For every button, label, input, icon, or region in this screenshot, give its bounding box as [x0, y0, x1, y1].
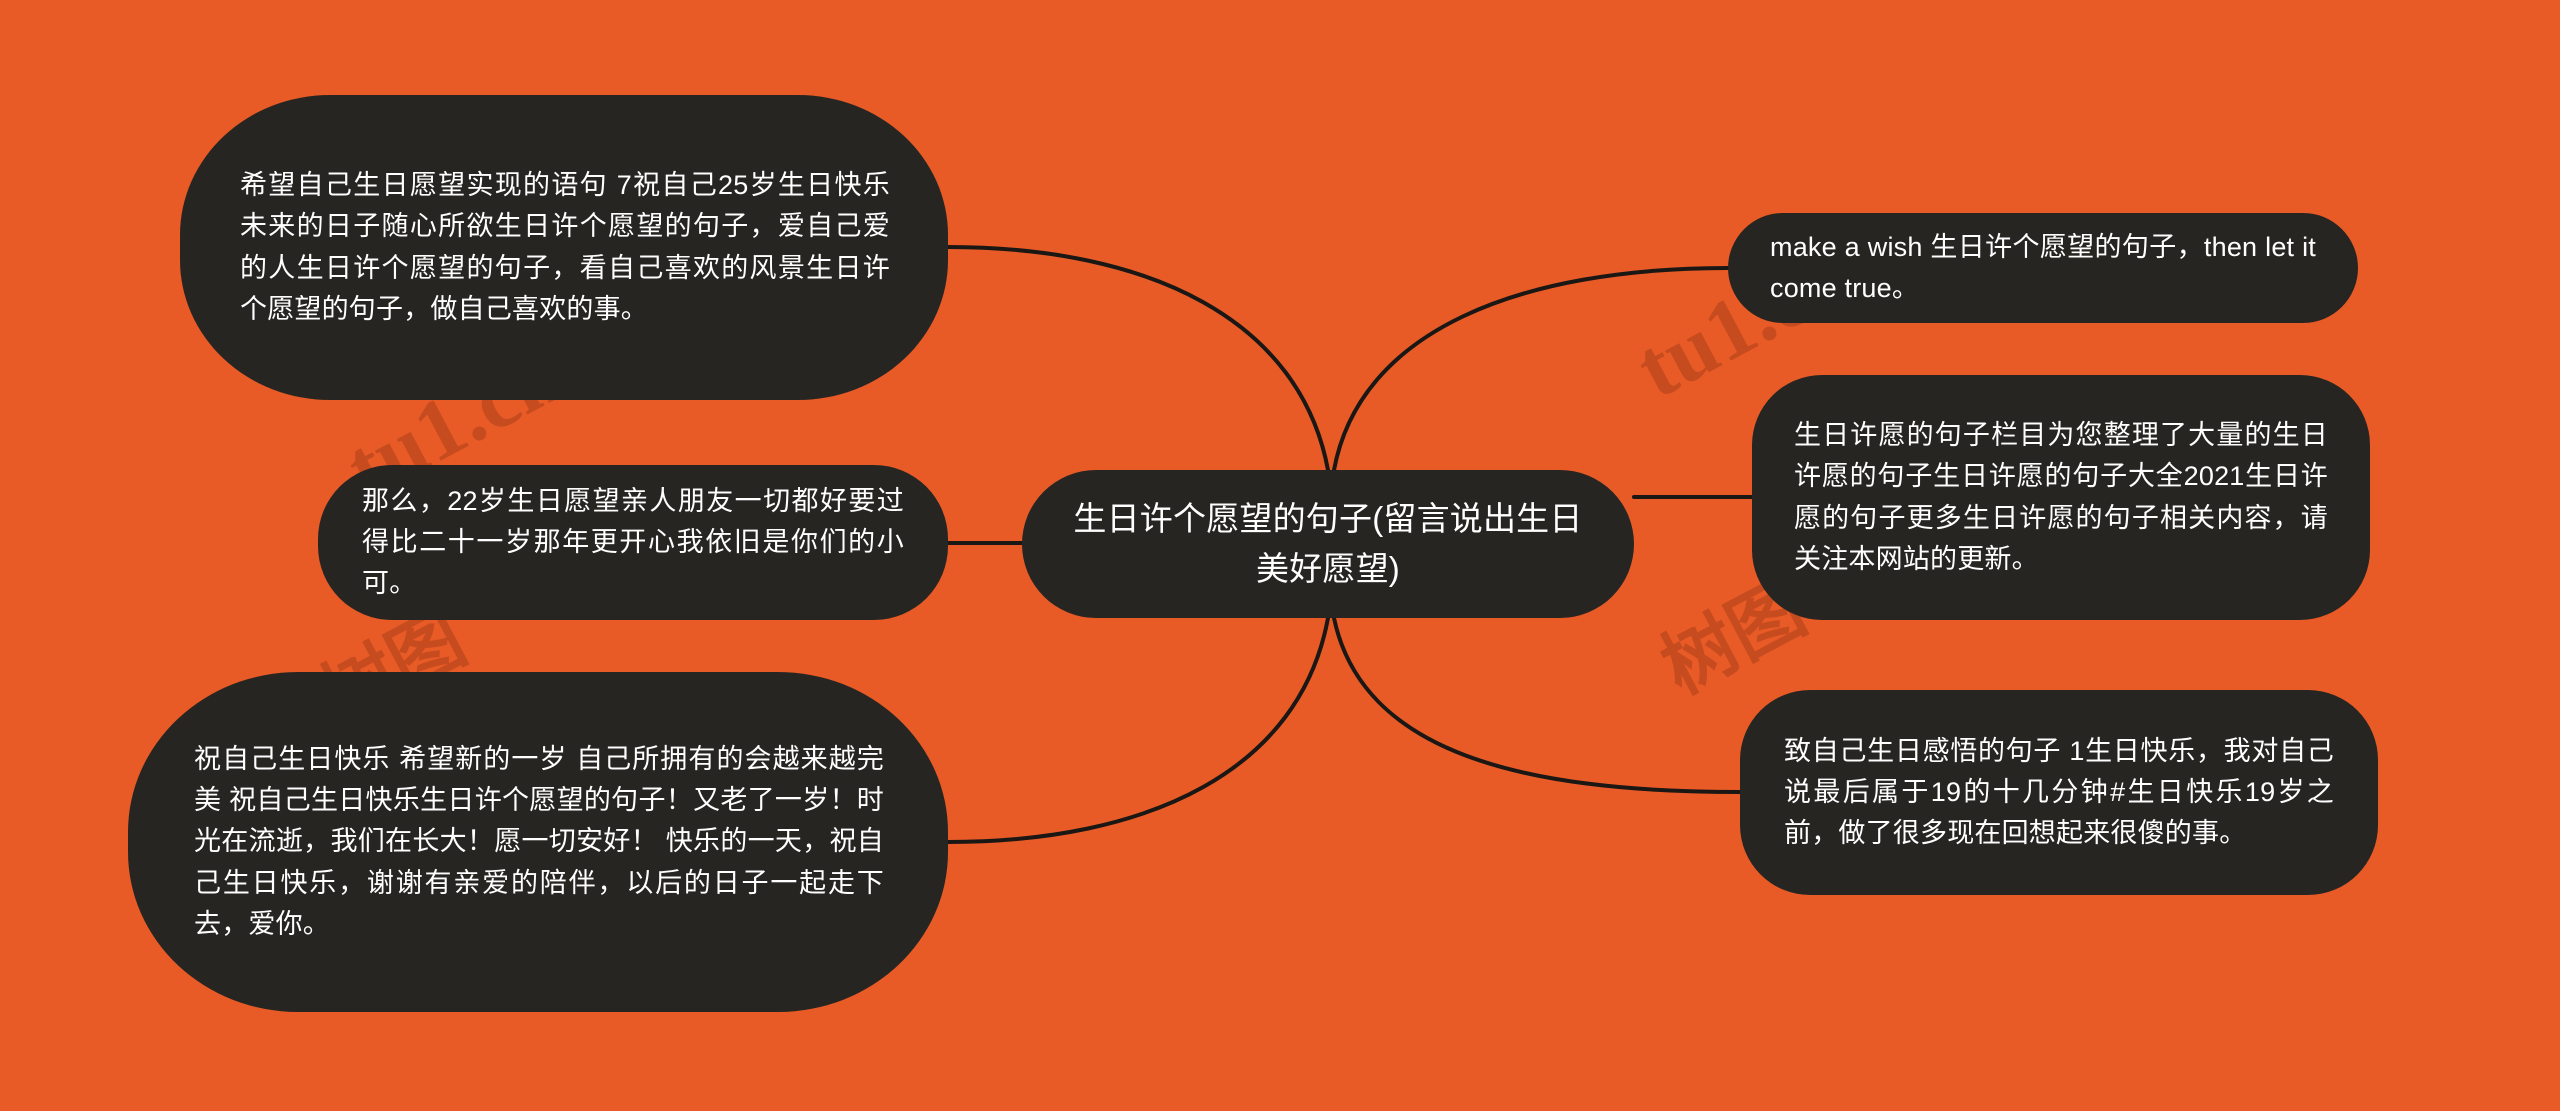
- node-label: 生日许个愿望的句子(留言说出生日美好愿望): [1068, 494, 1588, 594]
- link-center-to-r3: [1334, 618, 1740, 792]
- node-label: 生日许愿的句子栏目为您整理了大量的生日许愿的句子生日许愿的句子大全2021生日许…: [1794, 415, 2328, 579]
- mindmap-node-left-2[interactable]: 那么，22岁生日愿望亲人朋友一切都好要过得比二十一岁那年更开心我依旧是你们的小可…: [318, 465, 948, 620]
- link-center-to-l3: [948, 618, 1328, 842]
- mindmap-node-right-2[interactable]: 生日许愿的句子栏目为您整理了大量的生日许愿的句子生日许愿的句子大全2021生日许…: [1752, 375, 2370, 620]
- mindmap-node-center[interactable]: 生日许个愿望的句子(留言说出生日美好愿望): [1022, 470, 1634, 618]
- mindmap-node-right-1[interactable]: make a wish 生日许个愿望的句子，then let it come t…: [1728, 213, 2358, 323]
- mindmap-node-left-1[interactable]: 希望自己生日愿望实现的语句 7祝自己25岁生日快乐未来的日子随心所欲生日许个愿望…: [180, 95, 948, 400]
- mindmap-node-left-3[interactable]: 祝自己生日快乐 希望新的一岁 自己所拥有的会越来越完美 祝自己生日快乐生日许个愿…: [128, 672, 948, 1012]
- node-label: 希望自己生日愿望实现的语句 7祝自己25岁生日快乐未来的日子随心所欲生日许个愿望…: [240, 165, 890, 329]
- link-center-to-l1: [948, 247, 1328, 470]
- node-label: 致自己生日感悟的句子 1生日快乐，我对自己说最后属于19的十几分钟#生日快乐19…: [1784, 731, 2334, 854]
- node-label: 祝自己生日快乐 希望新的一岁 自己所拥有的会越来越完美 祝自己生日快乐生日许个愿…: [194, 739, 884, 944]
- node-label: make a wish 生日许个愿望的句子，then let it come t…: [1770, 227, 2316, 309]
- mindmap-canvas: tu1.cn tu1.cn 树图 树图 树图 希望自己生日愿望实现的语句 7祝自…: [0, 0, 2560, 1111]
- mindmap-node-right-3[interactable]: 致自己生日感悟的句子 1生日快乐，我对自己说最后属于19的十几分钟#生日快乐19…: [1740, 690, 2378, 895]
- link-center-to-r1: [1334, 268, 1728, 470]
- node-label: 那么，22岁生日愿望亲人朋友一切都好要过得比二十一岁那年更开心我依旧是你们的小可…: [362, 481, 904, 604]
